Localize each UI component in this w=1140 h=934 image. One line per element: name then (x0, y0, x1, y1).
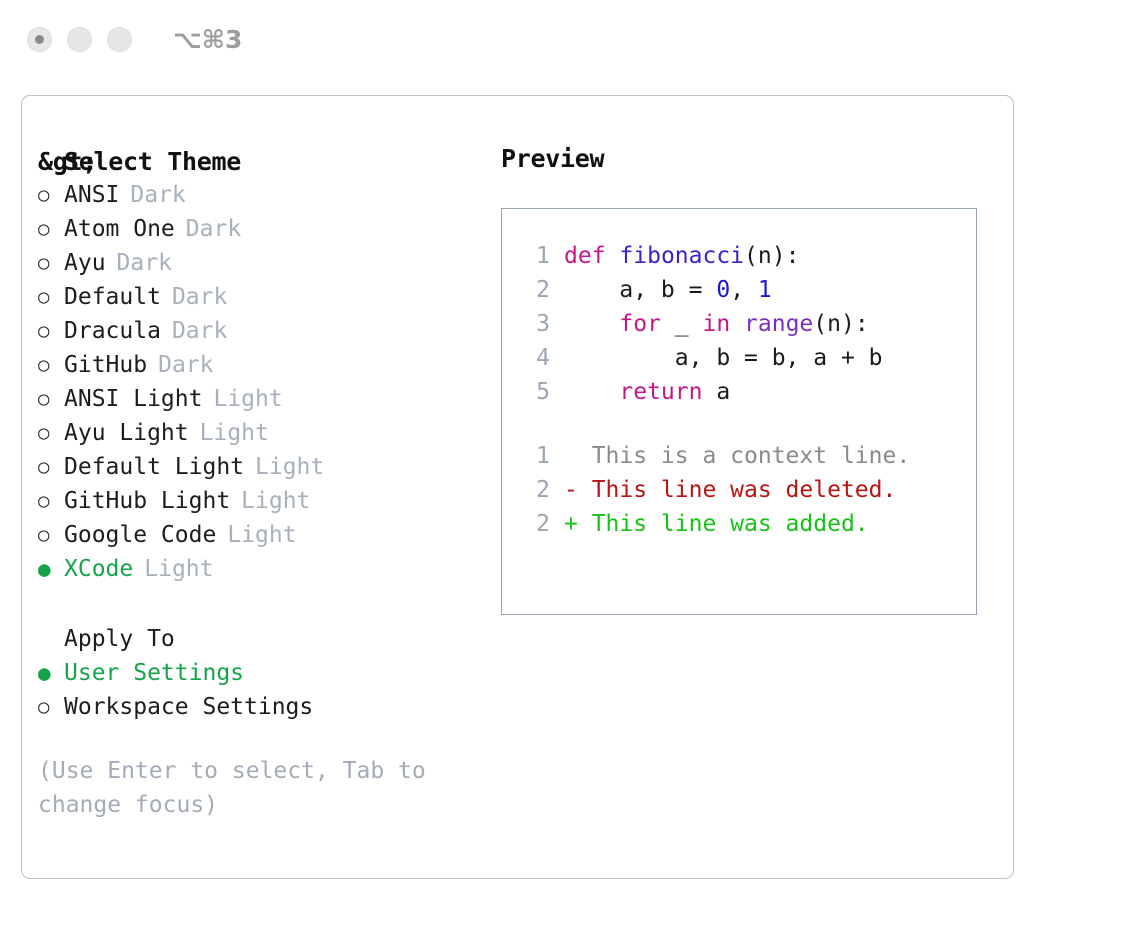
line-number: 1 (516, 443, 550, 469)
code-token: 1 (758, 277, 772, 303)
theme-option-default-light[interactable]: ○ Default Light Light (38, 450, 478, 484)
theme-option-google-code[interactable]: ○ Google Code Light (38, 518, 478, 552)
diff-line-added: 2 + This line was added. (516, 511, 976, 545)
theme-variant: Dark (158, 352, 213, 378)
theme-option-xcode[interactable]: ● XCode Light (38, 552, 478, 586)
radio-unselected-icon: ○ (38, 288, 64, 307)
theme-variant: Light (227, 522, 296, 548)
theme-name: GitHub (64, 352, 147, 378)
code-line: 1 def fibonacci (n): (516, 243, 976, 277)
code-token: 0 (716, 277, 730, 303)
code-token (564, 379, 619, 405)
diff-text: + This line was added. (564, 511, 869, 537)
radio-unselected-icon: ○ (38, 186, 64, 205)
line-number: 3 (516, 311, 550, 337)
theme-option-ansi-light[interactable]: ○ ANSI Light Light (38, 382, 478, 416)
theme-name: ANSI Light (64, 386, 202, 412)
line-number: 2 (516, 277, 550, 303)
code-token: , (730, 277, 758, 303)
content-frame: &gt; Select Theme ○ ANSI Dark ○ Atom One… (21, 95, 1014, 879)
apply-to-header: Apply To (38, 622, 478, 656)
code-token: (n): (744, 243, 799, 269)
window-dot-active[interactable] (27, 27, 52, 52)
code-line: 2 a, b = 0 , 1 (516, 277, 976, 311)
line-number: 5 (516, 379, 550, 405)
theme-name: Default Light (64, 454, 244, 480)
theme-name: GitHub Light (64, 488, 230, 514)
hint-spacer (38, 724, 478, 746)
window-dot-active-inner (35, 35, 44, 44)
theme-option-github-light[interactable]: ○ GitHub Light Light (38, 484, 478, 518)
theme-variant: Light (241, 488, 310, 514)
terminal-window: ⌥⌘3 &gt; Select Theme ○ ANSI Dark ○ Atom… (0, 0, 1140, 934)
radio-selected-icon: ● (38, 559, 64, 580)
theme-variant: Light (144, 556, 213, 582)
theme-option-github[interactable]: ○ GitHub Dark (38, 348, 478, 382)
select-theme-title: Select Theme (64, 147, 241, 176)
code-line: 5 return a (516, 379, 976, 413)
keyboard-shortcut-label: ⌥⌘3 (173, 25, 242, 54)
line-number: 4 (516, 345, 550, 371)
line-number: 2 (516, 511, 550, 537)
radio-unselected-icon: ○ (38, 322, 64, 341)
theme-option-dracula[interactable]: ○ Dracula Dark (38, 314, 478, 348)
apply-option-label: User Settings (64, 660, 244, 686)
code-token (564, 311, 619, 337)
radio-unselected-icon: ○ (38, 390, 64, 409)
theme-name: Google Code (64, 522, 216, 548)
code-token: a, b = b, a + b (564, 345, 883, 371)
section-spacer (38, 586, 478, 622)
code-token: a, b = (564, 277, 716, 303)
radio-unselected-icon: ○ (38, 254, 64, 273)
theme-variant: Light (213, 386, 282, 412)
theme-name: Dracula (64, 318, 161, 344)
theme-name: XCode (64, 556, 133, 582)
theme-selector-panel: &gt; Select Theme ○ ANSI Dark ○ Atom One… (38, 144, 478, 822)
radio-unselected-icon: ○ (38, 492, 64, 511)
theme-name: Atom One (64, 216, 175, 242)
line-number: 2 (516, 477, 550, 503)
code-token: fibonacci (619, 243, 744, 269)
title-bar: ⌥⌘3 (0, 0, 1140, 78)
theme-option-ayu[interactable]: ○ Ayu Dark (38, 246, 478, 280)
select-theme-header: &gt; Select Theme (38, 144, 478, 178)
theme-variant: Dark (117, 250, 172, 276)
radio-unselected-icon: ○ (38, 424, 64, 443)
code-token: (n): (813, 311, 868, 337)
code-token (730, 311, 744, 337)
theme-variant: Dark (130, 182, 185, 208)
code-token: _ (661, 311, 703, 337)
preview-code-box: 1 def fibonacci (n): 2 a, b = 0 , 1 3 (501, 208, 977, 615)
theme-name: Default (64, 284, 161, 310)
window-dot-second[interactable] (67, 27, 92, 52)
theme-variant: Dark (186, 216, 241, 242)
theme-name: Ayu Light (64, 420, 189, 446)
code-line: 4 a, b = b, a + b (516, 345, 976, 379)
theme-option-ayu-light[interactable]: ○ Ayu Light Light (38, 416, 478, 450)
preview-panel: Preview 1 def fibonacci (n): 2 a, b = 0 … (501, 144, 981, 615)
line-number: 1 (516, 243, 550, 269)
radio-unselected-icon: ○ (38, 356, 64, 375)
apply-option-workspace-settings[interactable]: ○ Workspace Settings (38, 690, 478, 724)
code-token: range (744, 311, 813, 337)
theme-option-default[interactable]: ○ Default Dark (38, 280, 478, 314)
code-token: in (702, 311, 730, 337)
keyboard-hint-text: (Use Enter to select, Tab to change focu… (38, 754, 438, 822)
code-token: return (619, 379, 702, 405)
diff-line-deleted: 2 - This line was deleted. (516, 477, 976, 511)
radio-selected-icon: ● (38, 663, 64, 684)
theme-variant: Dark (172, 318, 227, 344)
diff-text: This is a context line. (564, 443, 910, 469)
theme-name: Ayu (64, 250, 106, 276)
theme-variant: Dark (172, 284, 227, 310)
prompt-caret-icon: &gt; (38, 149, 64, 174)
radio-unselected-icon: ○ (38, 526, 64, 545)
radio-unselected-icon: ○ (38, 458, 64, 477)
radio-unselected-icon: ○ (38, 220, 64, 239)
apply-option-user-settings[interactable]: ● User Settings (38, 656, 478, 690)
code-token: def (564, 243, 606, 269)
preview-title: Preview (501, 144, 981, 173)
theme-variant: Light (200, 420, 269, 446)
diff-spacer (516, 413, 976, 443)
radio-unselected-icon: ○ (38, 698, 64, 717)
code-line: 3 for _ in range (n): (516, 311, 976, 345)
code-token (606, 243, 620, 269)
apply-option-label: Workspace Settings (64, 694, 313, 720)
theme-name: ANSI (64, 182, 119, 208)
window-dot-third[interactable] (107, 27, 132, 52)
theme-option-atom-one[interactable]: ○ Atom One Dark (38, 212, 478, 246)
code-token: a (702, 379, 730, 405)
theme-variant: Light (255, 454, 324, 480)
diff-line-context: 1 This is a context line. (516, 443, 976, 477)
diff-text: - This line was deleted. (564, 477, 896, 503)
code-token: for (619, 311, 661, 337)
theme-option-ansi[interactable]: ○ ANSI Dark (38, 178, 478, 212)
